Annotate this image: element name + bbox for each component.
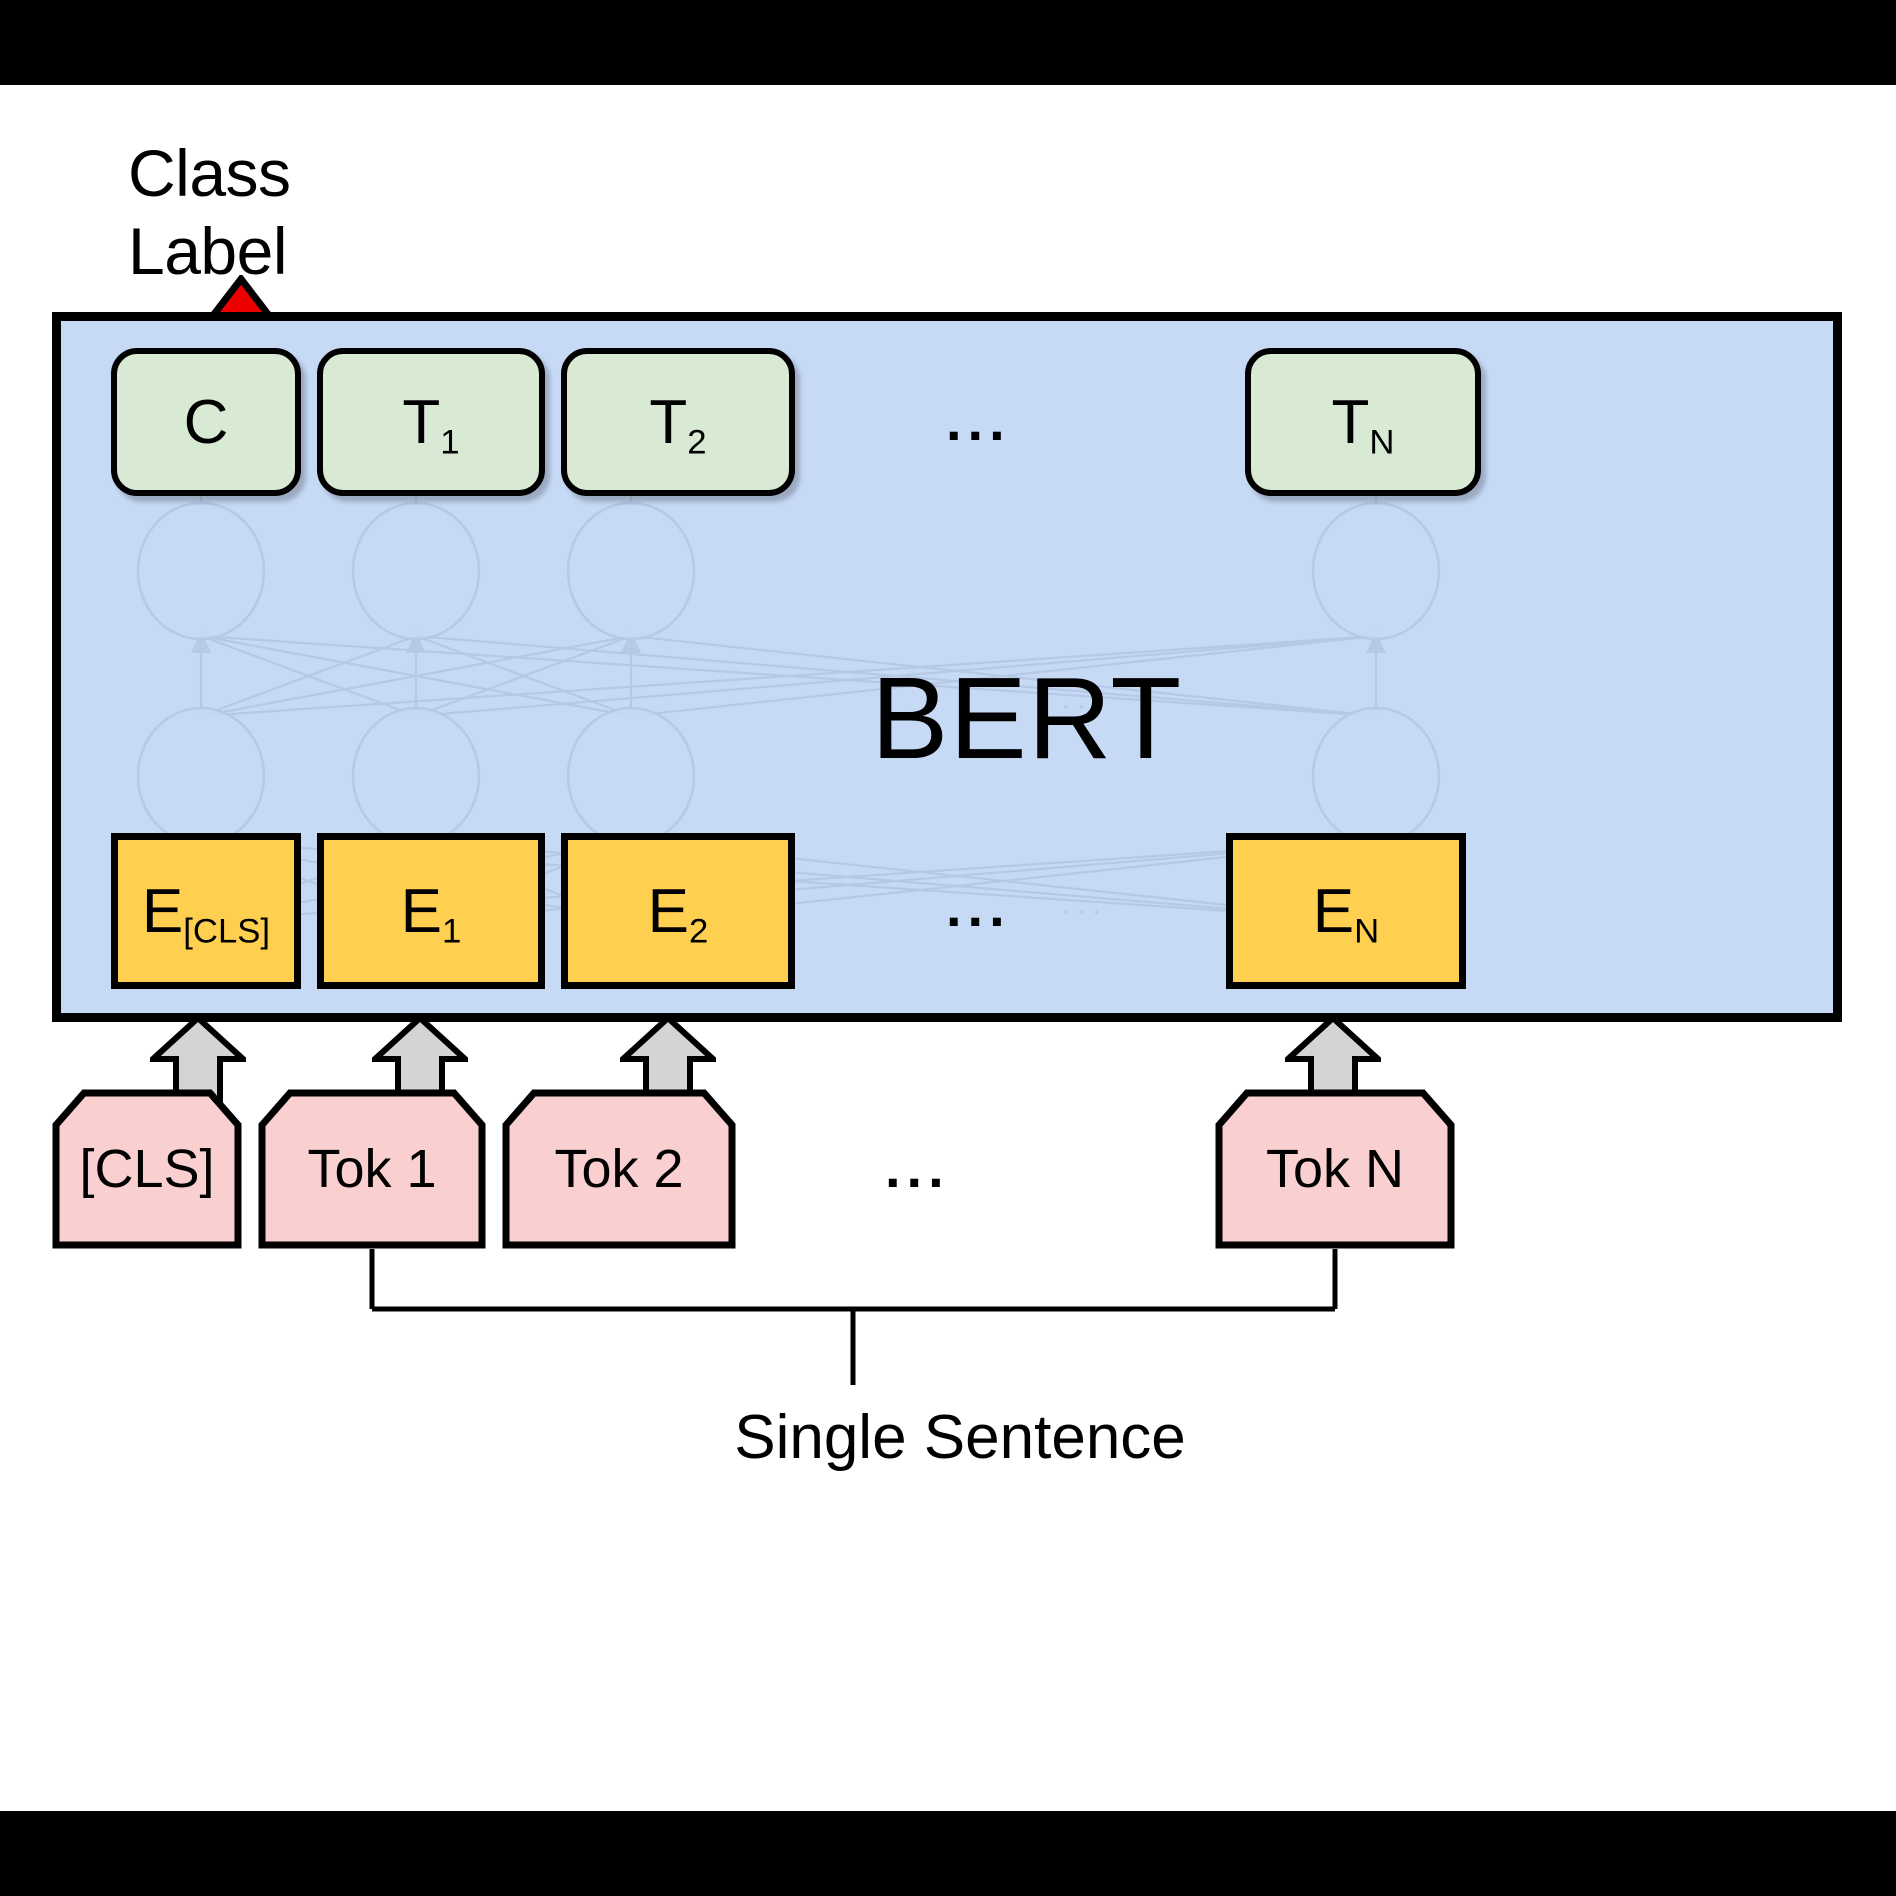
output-token-t2-label: T2 bbox=[649, 387, 706, 458]
output-token-t1-label: T1 bbox=[402, 387, 459, 458]
embedding-e1-label: E1 bbox=[401, 876, 462, 947]
embedding-e-cls[interactable]: E[CLS] bbox=[111, 833, 301, 989]
output-token-c[interactable]: C bbox=[111, 348, 301, 496]
input-token-1[interactable]: Tok 1 bbox=[258, 1089, 486, 1249]
input-caption: Single Sentence bbox=[640, 1402, 1280, 1473]
bert-wordmark: BERT bbox=[871, 651, 1182, 785]
input-token-cls-label: [CLS] bbox=[52, 1089, 242, 1249]
input-token-2[interactable]: Tok 2 bbox=[502, 1089, 736, 1249]
input-row-ellipsis: ... bbox=[885, 1140, 950, 1196]
figure-canvas: Class Label bbox=[0, 0, 1896, 1896]
output-token-tn[interactable]: TN bbox=[1245, 348, 1481, 496]
class-label-line-1: Class bbox=[128, 135, 448, 213]
class-label-text: Class Label bbox=[128, 135, 448, 291]
embedding-e2[interactable]: E2 bbox=[561, 833, 795, 989]
input-token-2-label: Tok 2 bbox=[502, 1089, 736, 1249]
output-token-t1[interactable]: T1 bbox=[317, 348, 545, 496]
output-token-c-label: C bbox=[184, 387, 229, 458]
output-row-ellipsis: ... bbox=[946, 393, 1011, 449]
input-token-n-label: Tok N bbox=[1215, 1089, 1455, 1249]
network-ellipsis-lower: ... bbox=[1061, 886, 1107, 920]
embedding-en-label: EN bbox=[1313, 876, 1379, 947]
embedding-row-ellipsis: ... bbox=[946, 879, 1011, 935]
embedding-e-cls-label: E[CLS] bbox=[142, 876, 270, 947]
embedding-en[interactable]: EN bbox=[1226, 833, 1466, 989]
input-token-cls[interactable]: [CLS] bbox=[52, 1089, 242, 1249]
figure-sheet: Class Label bbox=[0, 85, 1896, 1811]
output-token-t2[interactable]: T2 bbox=[561, 348, 795, 496]
input-token-1-label: Tok 1 bbox=[258, 1089, 486, 1249]
input-token-n[interactable]: Tok N bbox=[1215, 1089, 1455, 1249]
embedding-e1[interactable]: E1 bbox=[317, 833, 545, 989]
embedding-e2-label: E2 bbox=[648, 876, 709, 947]
output-token-tn-label: TN bbox=[1332, 387, 1395, 458]
bert-encoder-container: ... ... C T1 T2 TN bbox=[52, 312, 1842, 1022]
